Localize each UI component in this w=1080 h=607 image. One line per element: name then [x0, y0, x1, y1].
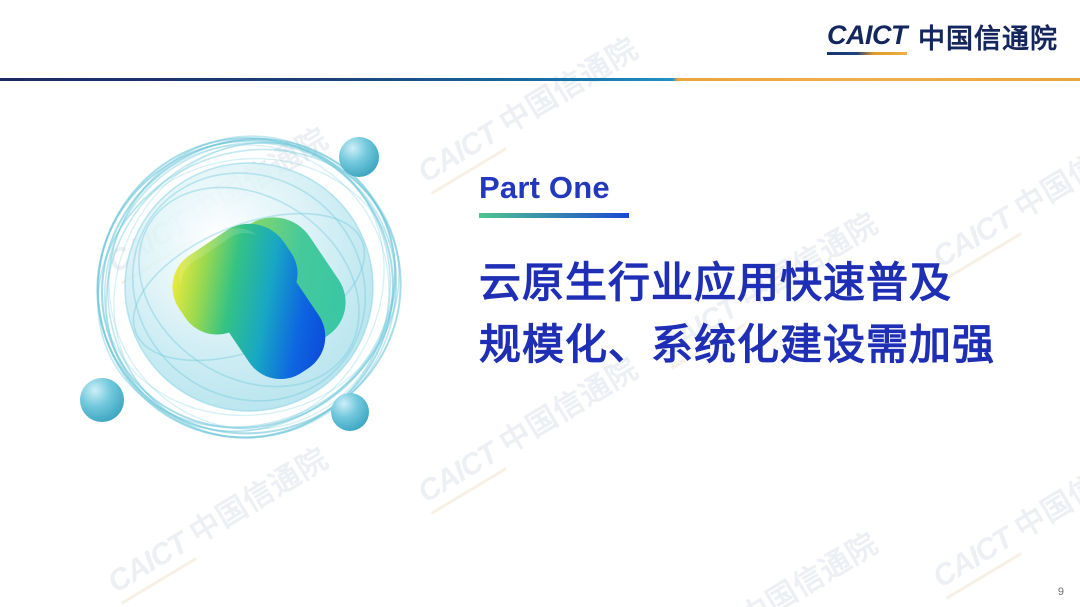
orbit-node-left	[80, 378, 124, 422]
cloud-in-sphere-graphic	[63, 101, 433, 471]
watermark-tile: CAICT中国信通院	[648, 519, 888, 607]
watermark-cn: 中国信通院	[1005, 429, 1080, 547]
orbit-node-top	[339, 137, 379, 177]
part-label: Part One	[479, 172, 995, 205]
watermark-en: CAICT	[927, 522, 1021, 600]
header-divider-line	[0, 78, 1080, 81]
logo-wordmark: CAICT	[827, 22, 907, 55]
logo-cn-text: 中国信通院	[918, 26, 1058, 55]
orbit-node-bottom	[331, 393, 369, 431]
headline-line-1: 云原生行业应用快速普及	[479, 252, 995, 314]
watermark-en: CAICT	[102, 527, 196, 605]
part-label-underline	[479, 213, 629, 218]
caict-logo: CAICT 中国信通院	[827, 22, 1058, 55]
watermark-tile: CAICT中国信通院	[923, 429, 1080, 599]
logo-underline-rule	[827, 52, 907, 55]
slide-canvas: CAICT中国信通院CAICT中国信通院CAICT中国信通院CAICT中国信通院…	[0, 0, 1080, 607]
section-title-block: Part One 云原生行业应用快速普及 规模化、系统化建设需加强	[479, 172, 995, 376]
slide-header: CAICT 中国信通院	[0, 0, 1080, 80]
headline-group: 云原生行业应用快速普及 规模化、系统化建设需加强	[479, 252, 995, 376]
headline-line-2: 规模化、系统化建设需加强	[479, 314, 995, 376]
watermark-cn: 中国信通院	[1005, 109, 1080, 227]
watermark-cn: 中国信通院	[730, 519, 886, 607]
page-number: 9	[1058, 586, 1064, 598]
logo-en-text: CAICT	[827, 22, 907, 49]
